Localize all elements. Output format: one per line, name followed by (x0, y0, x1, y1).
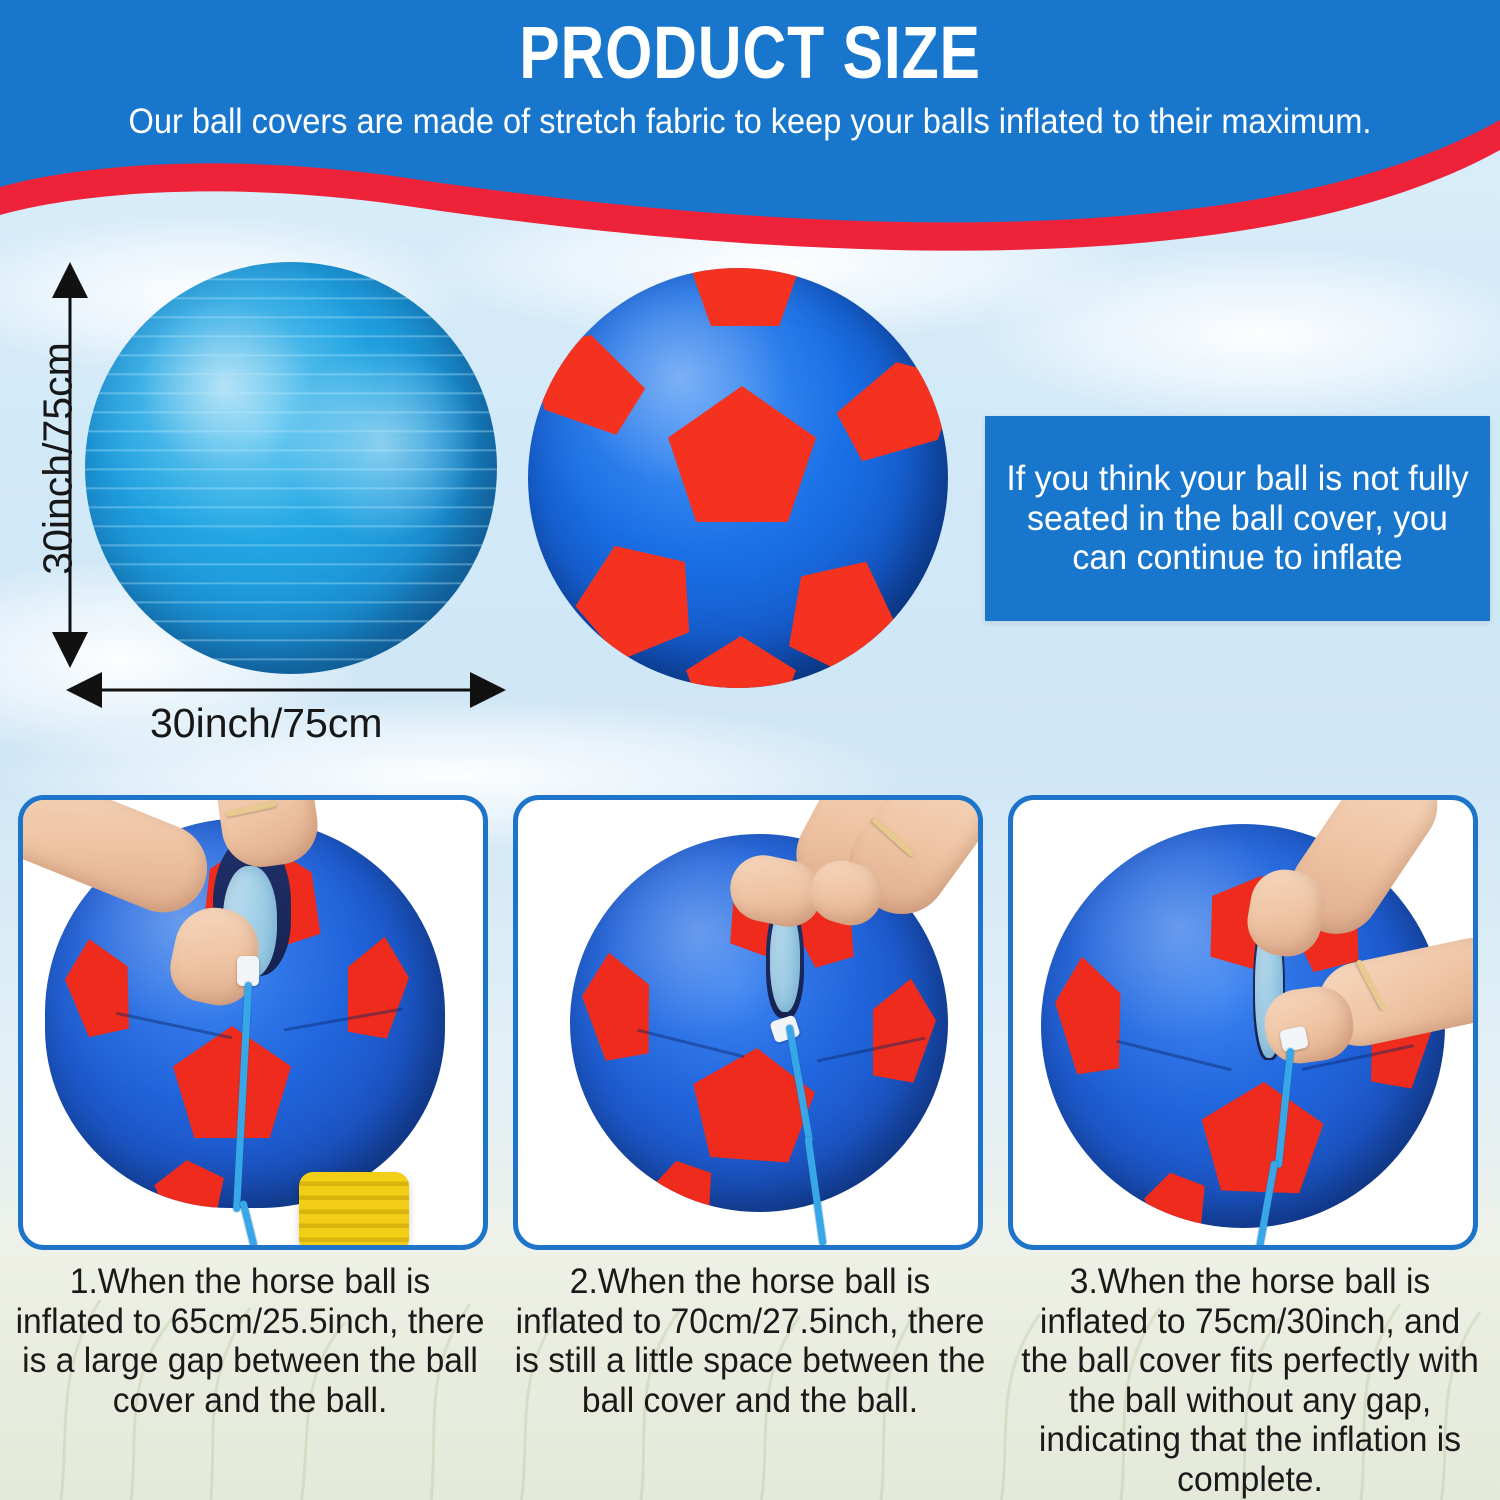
infographic-canvas: PRODUCT SIZE Our ball covers are made of… (0, 0, 1500, 1500)
inflate-tip-callout: If you think your ball is not fully seat… (985, 416, 1490, 621)
cover-patch (58, 932, 141, 1039)
foot-pump (299, 1172, 409, 1245)
cover-patch (1140, 1166, 1212, 1228)
cover-patch (1199, 1080, 1325, 1194)
step-caption-2: 2.When the horse ball is inflated to 70c… (510, 1252, 990, 1500)
cover-seam (637, 1029, 744, 1059)
cover-patch (1049, 952, 1131, 1076)
step-photo-2 (513, 795, 983, 1250)
cover-seam (116, 1012, 232, 1039)
captions-section: 1.When the horse ball is inflated to 65c… (0, 1252, 1500, 1500)
vertical-dimension-label: 30inch/75cm (35, 309, 82, 609)
step-photo-panels (0, 795, 1500, 1250)
inflate-tip-text: If you think your ball is not fully seat… (993, 459, 1483, 579)
cover-patch (173, 1026, 291, 1138)
cover-patch (862, 973, 943, 1085)
step-caption-1: 1.When the horse ball is inflated to 65c… (10, 1252, 490, 1500)
horizontal-dimension-label: 30inch/75cm (150, 700, 382, 747)
cover-patch (575, 947, 660, 1063)
dimension-arrows (0, 0, 1500, 780)
step-photo-1 (18, 795, 488, 1250)
cover-seam (1116, 1040, 1231, 1071)
cover-patch (337, 931, 415, 1040)
step-photo-3 (1008, 795, 1478, 1250)
cover-patch (646, 1153, 720, 1212)
step-caption-3: 3.When the horse ball is inflated to 75c… (1010, 1252, 1490, 1500)
cover-patch (152, 1157, 228, 1208)
